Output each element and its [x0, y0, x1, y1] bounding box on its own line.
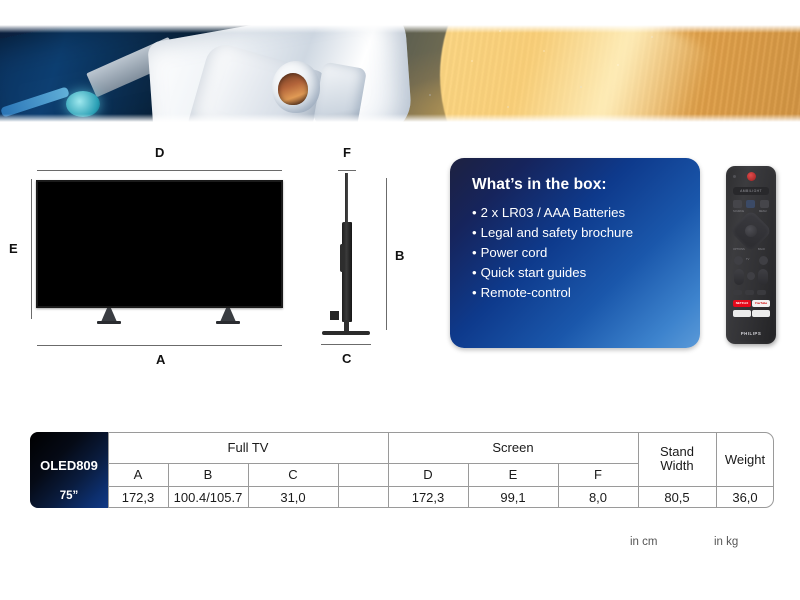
subheader-e: E: [468, 463, 558, 486]
header-stand-width: Stand Width: [638, 432, 716, 486]
hero-astronaut-backpack: [313, 62, 367, 122]
value-weight: 36,0: [716, 486, 774, 508]
tv-side-stand-base: [322, 331, 370, 335]
remote-led-icon: [733, 175, 736, 178]
model-size: 75”: [30, 490, 108, 502]
box-panel-title: What’s in the box:: [472, 176, 682, 194]
volume-rocker[interactable]: [734, 269, 744, 285]
header-weight: Weight: [716, 432, 774, 486]
netflix-app-button: NETFLIX: [733, 300, 751, 307]
dim-label-d: D: [155, 145, 164, 160]
box-list-item: •Remote-control: [472, 283, 682, 303]
philips-brand-label: PHILIPS: [726, 331, 776, 336]
box-item-text: 2 x LR03 / AAA Batteries: [481, 205, 625, 220]
remote-label-menu: MENU: [759, 210, 767, 213]
dim-label-a: A: [156, 352, 165, 367]
box-item-text: Remote-control: [481, 285, 571, 300]
subtitle-button-icon: [733, 200, 742, 208]
tv-side-upper-panel: [345, 173, 348, 225]
value-b: 100.4/105.7: [168, 486, 248, 508]
dim-line-d: [37, 170, 282, 171]
value-a: 172,3: [108, 486, 168, 508]
home-button-icon: [759, 256, 768, 265]
power-button-icon: [747, 172, 756, 181]
value-c: 31,0: [248, 486, 338, 508]
value-f: 8,0: [558, 486, 638, 508]
unit-label-kg: in kg: [714, 536, 738, 548]
app-button-three: [733, 310, 751, 317]
subheader-b: B: [168, 463, 248, 486]
page-root: D E A F B C What’s in the box: •2 x LR03…: [0, 0, 800, 600]
bullet-icon: •: [472, 245, 477, 260]
tv-side-bracket: [330, 311, 339, 320]
tv-front-screen: [36, 180, 283, 308]
app-button-four: [752, 310, 770, 317]
color-button-green: [745, 290, 754, 295]
settings-gear-icon: [760, 200, 769, 208]
box-list-item: •Legal and safety brochure: [472, 223, 682, 243]
stand-width-line1: Stand: [660, 445, 694, 459]
value-e: 99,1: [468, 486, 558, 508]
back-arrow-icon: [734, 256, 743, 265]
microphone-button-icon: [746, 200, 755, 208]
table-model-cell: OLED809 75”: [30, 432, 108, 508]
bullet-icon: •: [472, 285, 477, 300]
group-header-full-tv: Full TV: [108, 432, 388, 463]
dim-line-f: [338, 170, 356, 171]
bullet-icon: •: [472, 225, 477, 240]
box-list-item: •2 x LR03 / AAA Batteries: [472, 203, 682, 223]
hero-bottom-fade: [0, 114, 800, 122]
tv-side-lower-body: [342, 222, 352, 322]
value-stand-width: 80,5: [638, 486, 716, 508]
remote-label-source: SOURCE: [733, 210, 744, 213]
subheader-f: F: [558, 463, 638, 486]
model-name: OLED809: [30, 458, 108, 473]
box-contents-list: •2 x LR03 / AAA Batteries •Legal and saf…: [472, 203, 682, 303]
whats-in-the-box-panel: What’s in the box: •2 x LR03 / AAA Batte…: [450, 158, 700, 348]
remote-label-options: OPTIONS: [733, 248, 745, 251]
tv-foot-base-right: [216, 321, 240, 324]
box-item-text: Quick start guides: [481, 265, 587, 280]
box-list-item: •Quick start guides: [472, 263, 682, 283]
bullet-icon: •: [472, 265, 477, 280]
table-vline-c: [338, 463, 339, 508]
tv-foot-base-left: [97, 321, 121, 324]
tv-foot-right: [220, 308, 236, 322]
dim-label-f: F: [343, 145, 351, 160]
color-button-yellow: [757, 290, 766, 295]
unit-label-cm: in cm: [630, 536, 657, 548]
dim-line-c: [321, 344, 371, 345]
box-item-text: Power cord: [481, 245, 548, 260]
dim-label-c: C: [342, 351, 351, 366]
ambilight-button: AMBILIGHT: [733, 187, 769, 195]
dim-label-b: B: [395, 248, 404, 263]
bullet-icon: •: [472, 205, 477, 220]
hero-banner: [0, 25, 800, 122]
tv-side-connector: [340, 244, 344, 272]
dim-line-e: [31, 179, 32, 319]
dim-label-e: E: [9, 241, 18, 256]
subheader-d: D: [388, 463, 468, 486]
remote-control-image: AMBILIGHT SOURCE MENU OPTIONS BACK TV NE…: [726, 166, 776, 344]
stand-width-line2: Width: [660, 459, 693, 473]
subheader-c: C: [248, 463, 338, 486]
mute-button-icon: [747, 272, 755, 280]
color-button-red: [733, 290, 742, 295]
remote-label-tvguide: TV: [746, 258, 749, 261]
specifications-table: OLED809 75” Full TV Screen Stand Width W…: [30, 432, 774, 508]
value-d: 172,3: [388, 486, 468, 508]
dim-line-a: [37, 345, 282, 346]
ok-button-icon: [745, 225, 757, 237]
subheader-a: A: [108, 463, 168, 486]
hero-helmet-visor: [278, 73, 308, 105]
remote-label-back: BACK: [758, 248, 765, 251]
group-header-screen: Screen: [388, 432, 638, 463]
box-list-item: •Power cord: [472, 243, 682, 263]
box-item-text: Legal and safety brochure: [481, 225, 634, 240]
youtube-app-button: YouTube: [752, 300, 770, 307]
hero-top-fade: [0, 25, 800, 33]
dim-line-b: [386, 178, 387, 330]
tv-foot-left: [101, 308, 117, 322]
channel-rocker[interactable]: [758, 269, 768, 285]
